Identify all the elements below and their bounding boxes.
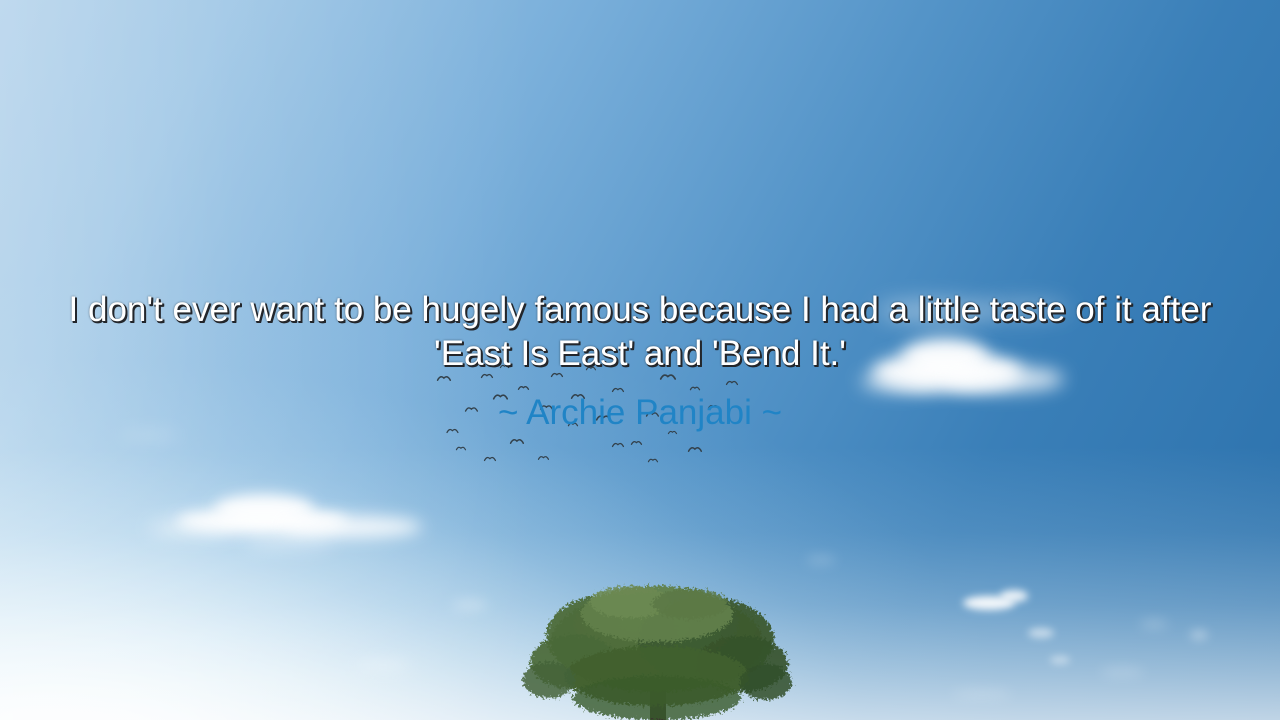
quote-author: ~ Archie Panjabi ~ <box>50 392 1230 434</box>
quote-text: I don't ever want to be hugely famous be… <box>50 288 1230 376</box>
quote-card: I don't ever want to be hugely famous be… <box>0 0 1280 720</box>
quote-text-block: I don't ever want to be hugely famous be… <box>0 288 1280 434</box>
